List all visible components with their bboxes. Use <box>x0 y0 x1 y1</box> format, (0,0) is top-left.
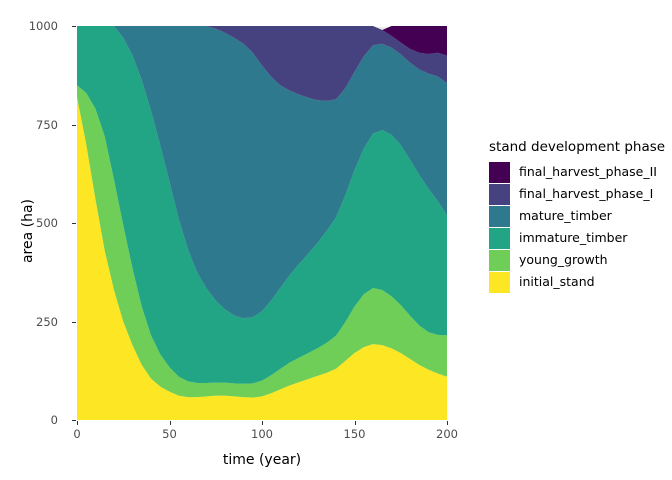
legend-item-label: final_harvest_phase_I <box>519 188 653 201</box>
legend-item-label: immature_timber <box>519 232 627 245</box>
y-tick-label: 250 <box>36 315 58 329</box>
plot-panel <box>77 26 447 420</box>
x-tick-mark <box>77 421 78 425</box>
y-tick-mark <box>72 26 76 27</box>
legend-color-swatch <box>489 162 510 183</box>
legend-color-swatch <box>489 228 510 249</box>
x-tick-mark <box>447 421 448 425</box>
y-tick-mark <box>72 125 76 126</box>
x-axis-title: time (year) <box>77 452 447 468</box>
y-tick-label: 1000 <box>29 19 58 33</box>
legend-item[interactable]: mature_timber <box>489 205 665 227</box>
stacked-area-svg <box>77 26 447 420</box>
x-tick-label: 100 <box>251 427 273 441</box>
y-tick-label: 750 <box>36 118 58 132</box>
legend-item[interactable]: initial_stand <box>489 271 665 293</box>
y-axis-title: area (ha) <box>20 131 36 331</box>
legend-color-swatch <box>489 184 510 205</box>
legend: stand development phase final_harvest_ph… <box>489 139 665 293</box>
y-tick-mark <box>72 322 76 323</box>
chart-root: 02505007501000 050100150200 time (year) … <box>0 0 672 480</box>
legend-item[interactable]: immature_timber <box>489 227 665 249</box>
y-tick-label: 500 <box>36 216 58 230</box>
x-tick-mark <box>355 421 356 425</box>
legend-item-label: young_growth <box>519 254 608 267</box>
x-tick-label: 150 <box>344 427 366 441</box>
legend-item[interactable]: final_harvest_phase_I <box>489 183 665 205</box>
legend-item-label: final_harvest_phase_II <box>519 166 657 179</box>
x-tick-label: 200 <box>436 427 458 441</box>
legend-title: stand development phase <box>489 139 665 155</box>
legend-item-list: final_harvest_phase_IIfinal_harvest_phas… <box>489 161 665 293</box>
legend-item[interactable]: young_growth <box>489 249 665 271</box>
y-tick-label: 0 <box>51 413 58 427</box>
legend-item-label: initial_stand <box>519 276 595 289</box>
legend-color-swatch <box>489 250 510 271</box>
x-tick-label: 0 <box>73 427 80 441</box>
x-tick-mark <box>170 421 171 425</box>
x-tick-label: 50 <box>162 427 177 441</box>
y-tick-mark <box>72 223 76 224</box>
legend-item-label: mature_timber <box>519 210 612 223</box>
x-tick-mark <box>262 421 263 425</box>
legend-color-swatch <box>489 206 510 227</box>
y-tick-mark <box>72 420 76 421</box>
legend-item[interactable]: final_harvest_phase_II <box>489 161 665 183</box>
legend-color-swatch <box>489 272 510 293</box>
